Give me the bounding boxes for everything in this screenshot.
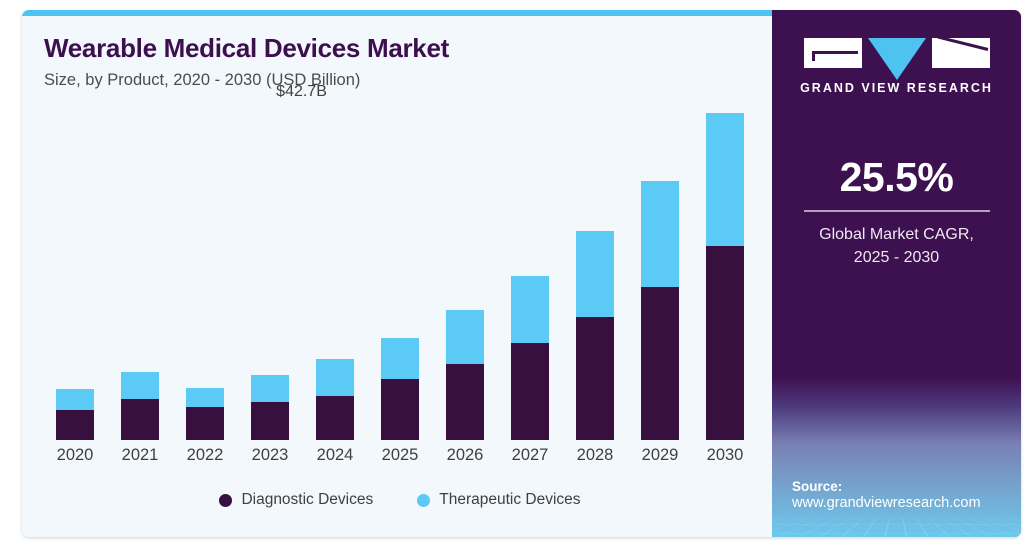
bar-segment-diagnostic[interactable] [56, 410, 94, 441]
logo-left-block-icon [804, 38, 862, 68]
bar-segment-diagnostic[interactable] [381, 379, 419, 440]
x-axis-tick-label: 2029 [637, 446, 683, 465]
chart-legend: Diagnostic DevicesTherapeutic Devices [44, 491, 756, 509]
cagr-block: 25.5% Global Market CAGR, 2025 - 2030 [802, 157, 992, 269]
bar-column [377, 108, 423, 440]
cagr-caption: Global Market CAGR, 2025 - 2030 [802, 223, 992, 269]
bar-segment-therapeutic[interactable] [316, 359, 354, 396]
chart-pane: Wearable Medical Devices Market Size, by… [22, 10, 772, 537]
x-axis: 2020202120222023202420252026202720282029… [44, 446, 756, 465]
stacked-bar[interactable] [576, 231, 614, 440]
x-axis-tick-label: 2023 [247, 446, 293, 465]
logo-triangle-icon [868, 38, 926, 80]
bar-segment-diagnostic[interactable] [641, 287, 679, 440]
bar-column: $42.7B [312, 108, 358, 440]
ground-graphic [772, 377, 1021, 537]
bar-segment-diagnostic[interactable] [446, 364, 484, 440]
bar-column [702, 108, 748, 440]
stacked-bar[interactable] [56, 389, 94, 440]
chart-plot-area: $42.7B 202020212022202320242025202620272… [44, 108, 756, 453]
legend-label: Therapeutic Devices [439, 491, 580, 509]
bar-segment-therapeutic[interactable] [381, 338, 419, 379]
legend-item[interactable]: Therapeutic Devices [417, 491, 580, 509]
x-axis-tick-label: 2030 [702, 446, 748, 465]
brand-logo: GRAND VIEW RESEARCH [800, 38, 993, 95]
logo-wordmark: GRAND VIEW RESEARCH [800, 81, 993, 95]
stacked-bar[interactable] [121, 372, 159, 440]
logo-mark-icon [800, 38, 993, 70]
logo-right-block-icon [932, 38, 990, 68]
stacked-bar[interactable] [381, 338, 419, 440]
bar-segment-therapeutic[interactable] [186, 388, 224, 408]
bar-segment-therapeutic[interactable] [446, 310, 484, 364]
bar-column [182, 108, 228, 440]
bar-segment-diagnostic[interactable] [316, 396, 354, 440]
bar-segment-diagnostic[interactable] [251, 402, 289, 440]
x-axis-tick-label: 2025 [377, 446, 423, 465]
bar-column [442, 108, 488, 440]
source-label: Source: [792, 479, 981, 494]
legend-swatch-icon [417, 494, 430, 507]
legend-label: Diagnostic Devices [241, 491, 373, 509]
bar-segment-diagnostic[interactable] [706, 246, 744, 440]
source-url[interactable]: www.grandviewresearch.com [792, 495, 981, 511]
stacked-bar[interactable] [641, 181, 679, 440]
bar-group: $42.7B [44, 108, 756, 440]
bar-segment-therapeutic[interactable] [251, 375, 289, 403]
x-axis-tick-label: 2026 [442, 446, 488, 465]
infographic-root: Wearable Medical Devices Market Size, by… [0, 0, 1033, 547]
bar-segment-therapeutic[interactable] [706, 113, 744, 246]
bar-segment-diagnostic[interactable] [186, 407, 224, 440]
x-axis-tick-label: 2024 [312, 446, 358, 465]
legend-swatch-icon [219, 494, 232, 507]
cagr-caption-line-1: Global Market CAGR, [802, 223, 992, 246]
x-axis-tick-label: 2020 [52, 446, 98, 465]
cagr-caption-line-2: 2025 - 2030 [802, 246, 992, 269]
stacked-bar[interactable] [706, 113, 744, 440]
legend-item[interactable]: Diagnostic Devices [219, 491, 373, 509]
bar-column [507, 108, 553, 440]
stacked-bar[interactable] [186, 388, 224, 440]
stacked-bar[interactable] [446, 310, 484, 440]
stacked-bar[interactable] [251, 375, 289, 440]
stacked-bar[interactable] [316, 359, 354, 440]
bar-column [572, 108, 618, 440]
bar-column [52, 108, 98, 440]
bar-segment-therapeutic[interactable] [576, 231, 614, 318]
page-title: Wearable Medical Devices Market [44, 34, 772, 63]
x-axis-tick-label: 2028 [572, 446, 618, 465]
page-subtitle: Size, by Product, 2020 - 2030 (USD Billi… [44, 71, 772, 90]
bar-value-callout: $42.7B [276, 83, 327, 101]
x-axis-tick-label: 2021 [117, 446, 163, 465]
bar-segment-diagnostic[interactable] [121, 399, 159, 441]
bar-segment-therapeutic[interactable] [511, 276, 549, 343]
bar-segment-therapeutic[interactable] [641, 181, 679, 287]
cagr-divider [804, 210, 990, 212]
brand-pane: GRAND VIEW RESEARCH 25.5% Global Market … [772, 10, 1021, 537]
bar-segment-therapeutic[interactable] [121, 372, 159, 399]
bar-segment-diagnostic[interactable] [576, 317, 614, 440]
infographic-card: Wearable Medical Devices Market Size, by… [22, 10, 1021, 537]
bar-segment-therapeutic[interactable] [56, 389, 94, 410]
source-block: Source: www.grandviewresearch.com [792, 479, 981, 511]
bar-segment-diagnostic[interactable] [511, 343, 549, 440]
perspective-grid-icon [772, 518, 1021, 537]
stacked-bar[interactable] [511, 276, 549, 440]
x-axis-tick-label: 2022 [182, 446, 228, 465]
x-axis-tick-label: 2027 [507, 446, 553, 465]
cagr-value: 25.5% [802, 157, 992, 198]
bar-column [117, 108, 163, 440]
bar-column [637, 108, 683, 440]
bar-column [247, 108, 293, 440]
